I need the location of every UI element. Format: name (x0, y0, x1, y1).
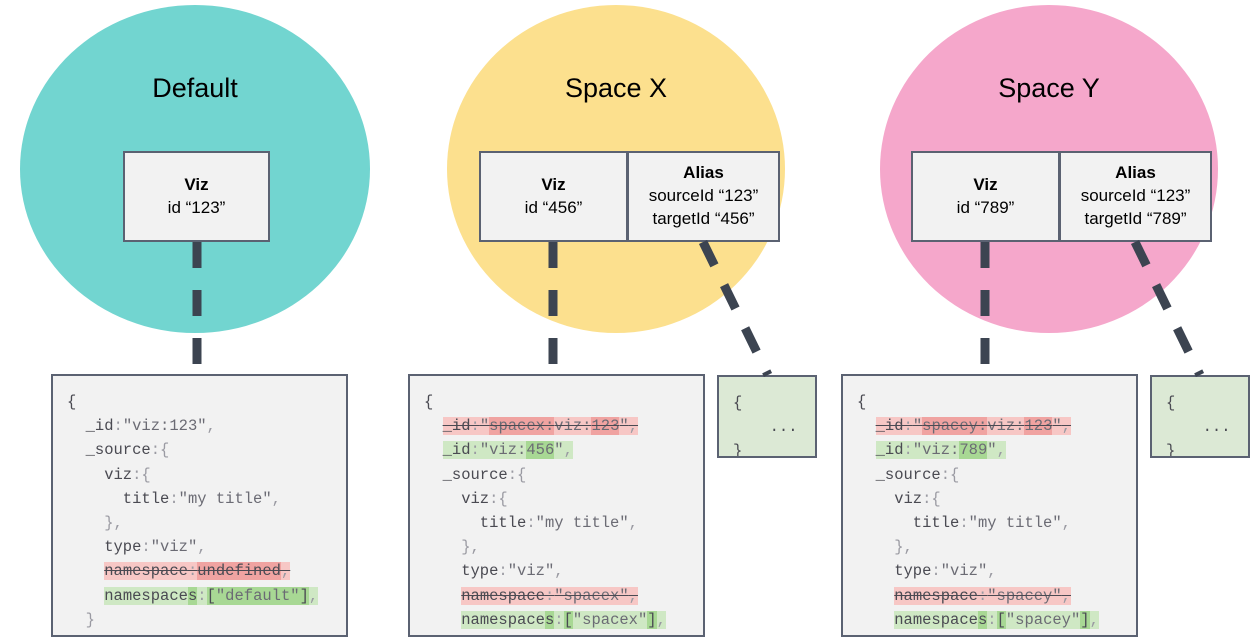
spacex-alias-box: Alias sourceId “123” targetId “456” (627, 151, 780, 242)
code-line-added: namespaces:["default"], (67, 584, 346, 608)
spacey-alias-source-id: sourceId “123” (1081, 185, 1191, 208)
spacey-viz-id: id “789” (957, 197, 1015, 220)
spacey-alias-title: Alias (1115, 162, 1156, 185)
space-y-title: Space Y (880, 75, 1218, 102)
spacey-code-block: { _id:"spacey:viz:123", _id:"viz:789", _… (841, 374, 1138, 637)
code-line: _source:{ (857, 463, 1136, 487)
spacey-viz-box: Viz id “789” (911, 151, 1060, 242)
default-space-title: Default (20, 75, 370, 102)
code-line: ... (1166, 415, 1248, 439)
code-line-removed: namespace:"spacex", (424, 584, 703, 608)
spacey-alias-box: Alias sourceId “123” targetId “789” (1059, 151, 1212, 242)
code-line-removed: namespace:"spacey", (857, 584, 1136, 608)
code-line-added: namespaces:["spacey"], (857, 608, 1136, 632)
spacex-viz-box: Viz id “456” (479, 151, 628, 242)
code-line: { (1166, 391, 1248, 415)
code-line: title:"my title", (424, 511, 703, 535)
code-line: } (857, 632, 1136, 637)
code-line: }, (857, 535, 1136, 559)
code-line: } (1166, 439, 1248, 458)
code-line-removed: _id:"spacex:viz:123", (424, 414, 703, 438)
code-line: } (67, 632, 346, 637)
code-line-added: _id:"viz:789", (857, 438, 1136, 462)
space-x-title: Space X (447, 75, 785, 102)
code-line: _id:"viz:123", (67, 414, 346, 438)
code-line: } (424, 632, 703, 637)
code-line: type:"viz", (424, 559, 703, 583)
default-viz-box: Viz id “123” (123, 151, 270, 242)
spacex-alias-target-id: targetId “456” (652, 208, 754, 231)
code-line: title:"my title", (67, 487, 346, 511)
spacey-alias-target-id: targetId “789” (1084, 208, 1186, 231)
spacey-alias-code-block: { ... } (1150, 375, 1250, 458)
code-line: { (733, 391, 815, 415)
spacex-viz-id: id “456” (525, 197, 583, 220)
code-line: { (857, 390, 1136, 414)
code-line: }, (424, 535, 703, 559)
spacex-alias-title: Alias (683, 162, 724, 185)
default-viz-title: Viz (184, 174, 208, 197)
code-line: ... (733, 415, 815, 439)
spacex-code-block: { _id:"spacex:viz:123", _id:"viz:456", _… (408, 374, 705, 637)
code-line: type:"viz", (857, 559, 1136, 583)
code-line-removed: namespace:undefined, (67, 559, 346, 583)
code-line: } (67, 608, 346, 632)
spacex-alias-source-id: sourceId “123” (649, 185, 759, 208)
code-line: title:"my title", (857, 511, 1136, 535)
code-line-added: _id:"viz:456", (424, 438, 703, 462)
spacex-viz-title: Viz (541, 174, 565, 197)
code-line: type:"viz", (67, 535, 346, 559)
code-line: viz:{ (857, 487, 1136, 511)
default-viz-id: id “123” (168, 197, 226, 220)
code-line-added: namespaces:["spacex"], (424, 608, 703, 632)
spacey-viz-title: Viz (973, 174, 997, 197)
diagram-canvas: Default Viz id “123” { _id:"viz:123", _s… (0, 0, 1260, 642)
code-line: } (733, 439, 815, 458)
default-code-block: { _id:"viz:123", _source:{ viz:{ title:"… (51, 374, 348, 637)
code-line: viz:{ (67, 463, 346, 487)
code-line: }, (67, 511, 346, 535)
code-line: _source:{ (67, 438, 346, 462)
spacex-alias-code-block: { ... } (717, 375, 817, 458)
code-line: _source:{ (424, 463, 703, 487)
code-line: { (67, 390, 346, 414)
code-line-removed: _id:"spacey:viz:123", (857, 414, 1136, 438)
code-line: { (424, 390, 703, 414)
code-line: viz:{ (424, 487, 703, 511)
